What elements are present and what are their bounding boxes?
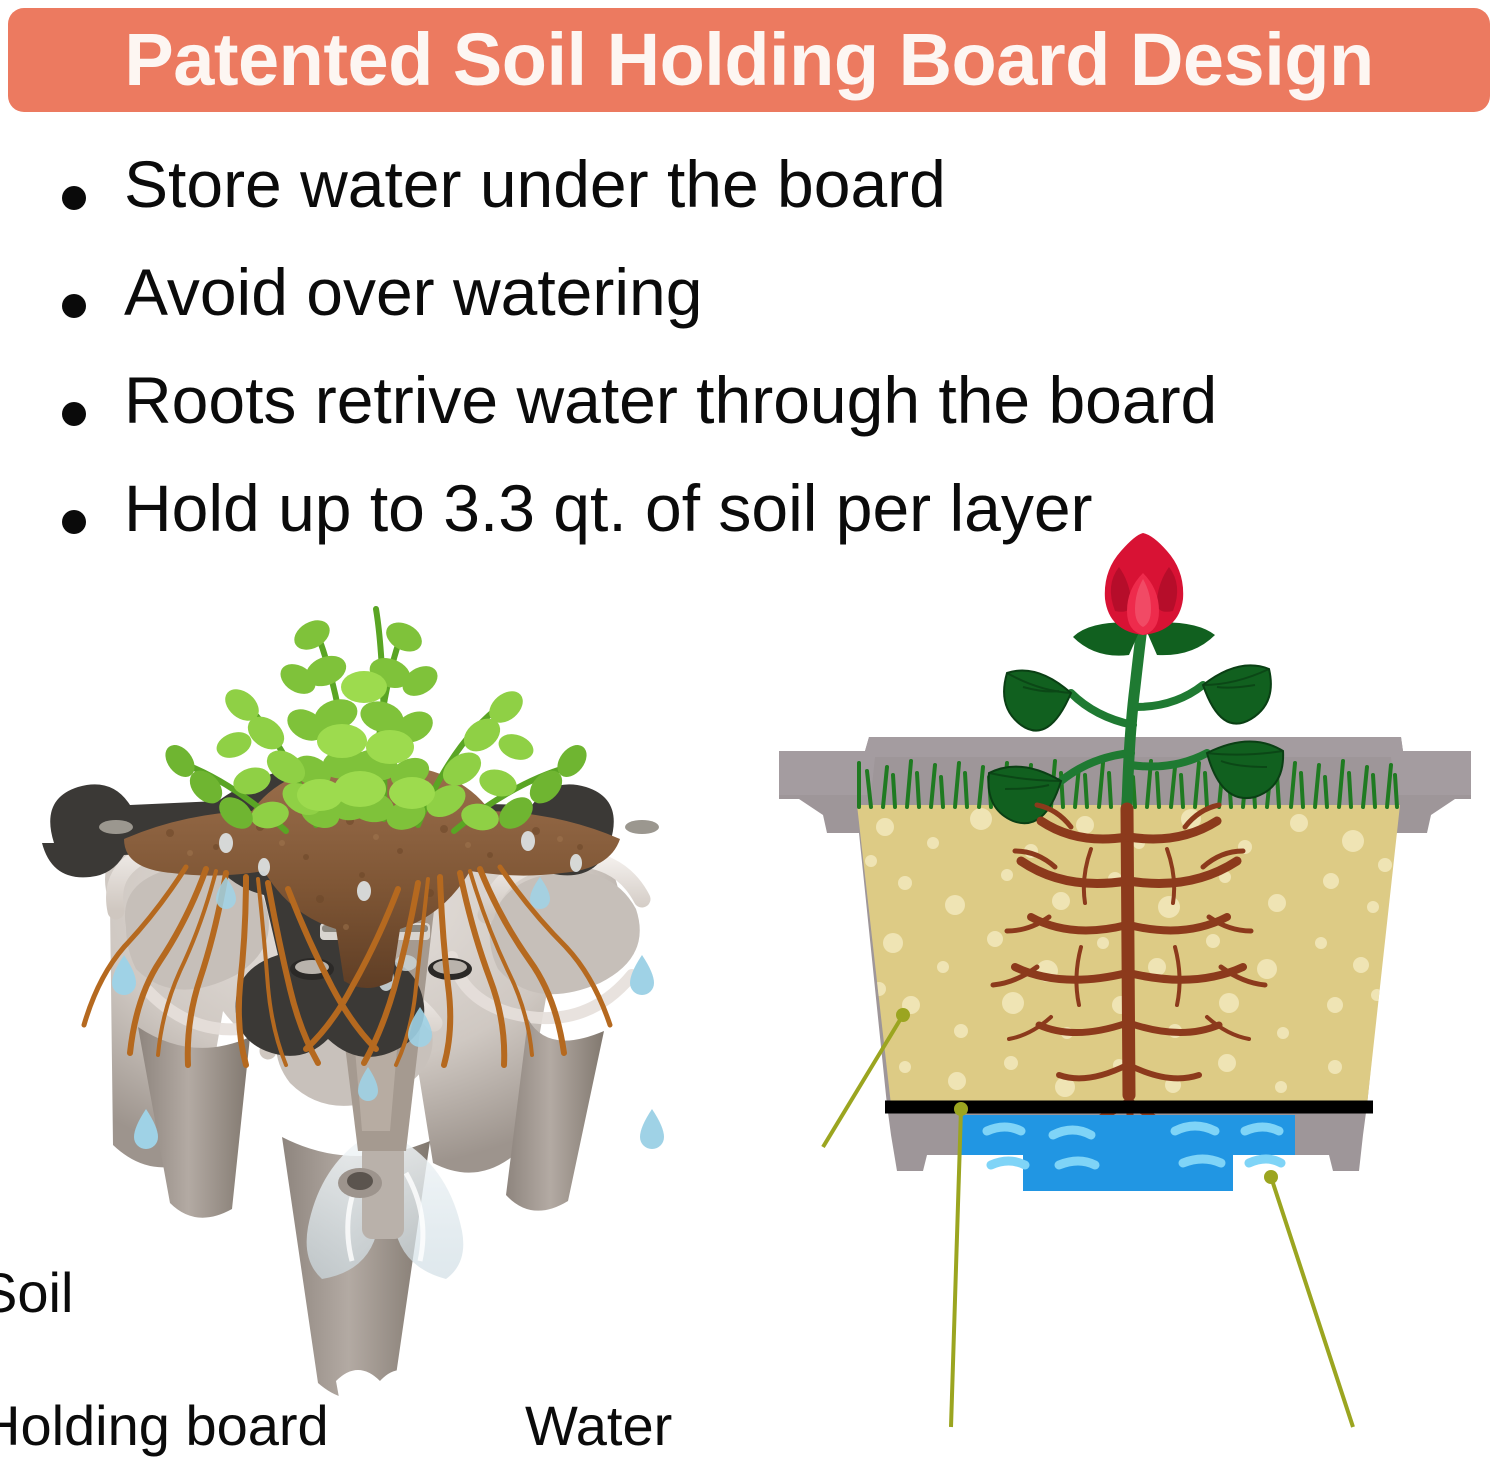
bullet-label: Store water under the board bbox=[124, 150, 946, 219]
product-cutaway-illustration bbox=[20, 575, 740, 1475]
product-cutaway-figure bbox=[20, 575, 740, 1475]
callout-label-soil: Soil bbox=[0, 1265, 73, 1321]
water-reservoir bbox=[961, 1115, 1295, 1191]
planter-cross-section-diagram bbox=[755, 575, 1500, 1477]
bullet-dot-icon bbox=[62, 186, 86, 210]
figure-row: Soil Holding board Water bbox=[0, 575, 1500, 1477]
bullet-dot-icon bbox=[62, 402, 86, 426]
callout-label-water: Water bbox=[525, 1398, 672, 1454]
callout-label-holding-board: Holding board bbox=[0, 1398, 329, 1454]
list-item: Hold up to 3.3 qt. of soil per layer bbox=[0, 474, 1460, 582]
cross-section-figure bbox=[755, 575, 1500, 1477]
bullet-label: Avoid over watering bbox=[124, 258, 702, 327]
feature-bullet-list: Store water under the board Avoid over w… bbox=[0, 150, 1460, 582]
bullet-label: Roots retrive water through the board bbox=[124, 366, 1217, 435]
list-item: Avoid over watering bbox=[0, 258, 1460, 366]
leader-anchor-holding-board bbox=[954, 1102, 968, 1116]
bullet-label: Hold up to 3.3 qt. of soil per layer bbox=[124, 474, 1093, 543]
list-item: Roots retrive water through the board bbox=[0, 366, 1460, 474]
list-item: Store water under the board bbox=[0, 150, 1460, 258]
plant-foliage bbox=[159, 609, 592, 835]
bullet-dot-icon bbox=[62, 510, 86, 534]
page-title: Patented Soil Holding Board Design bbox=[124, 23, 1373, 97]
leader-anchor-soil bbox=[896, 1008, 910, 1022]
bullet-dot-icon bbox=[62, 294, 86, 318]
header-banner: Patented Soil Holding Board Design bbox=[8, 8, 1490, 112]
infographic-page: Patented Soil Holding Board Design Store… bbox=[0, 0, 1500, 1477]
leader-anchor-water bbox=[1264, 1170, 1278, 1184]
